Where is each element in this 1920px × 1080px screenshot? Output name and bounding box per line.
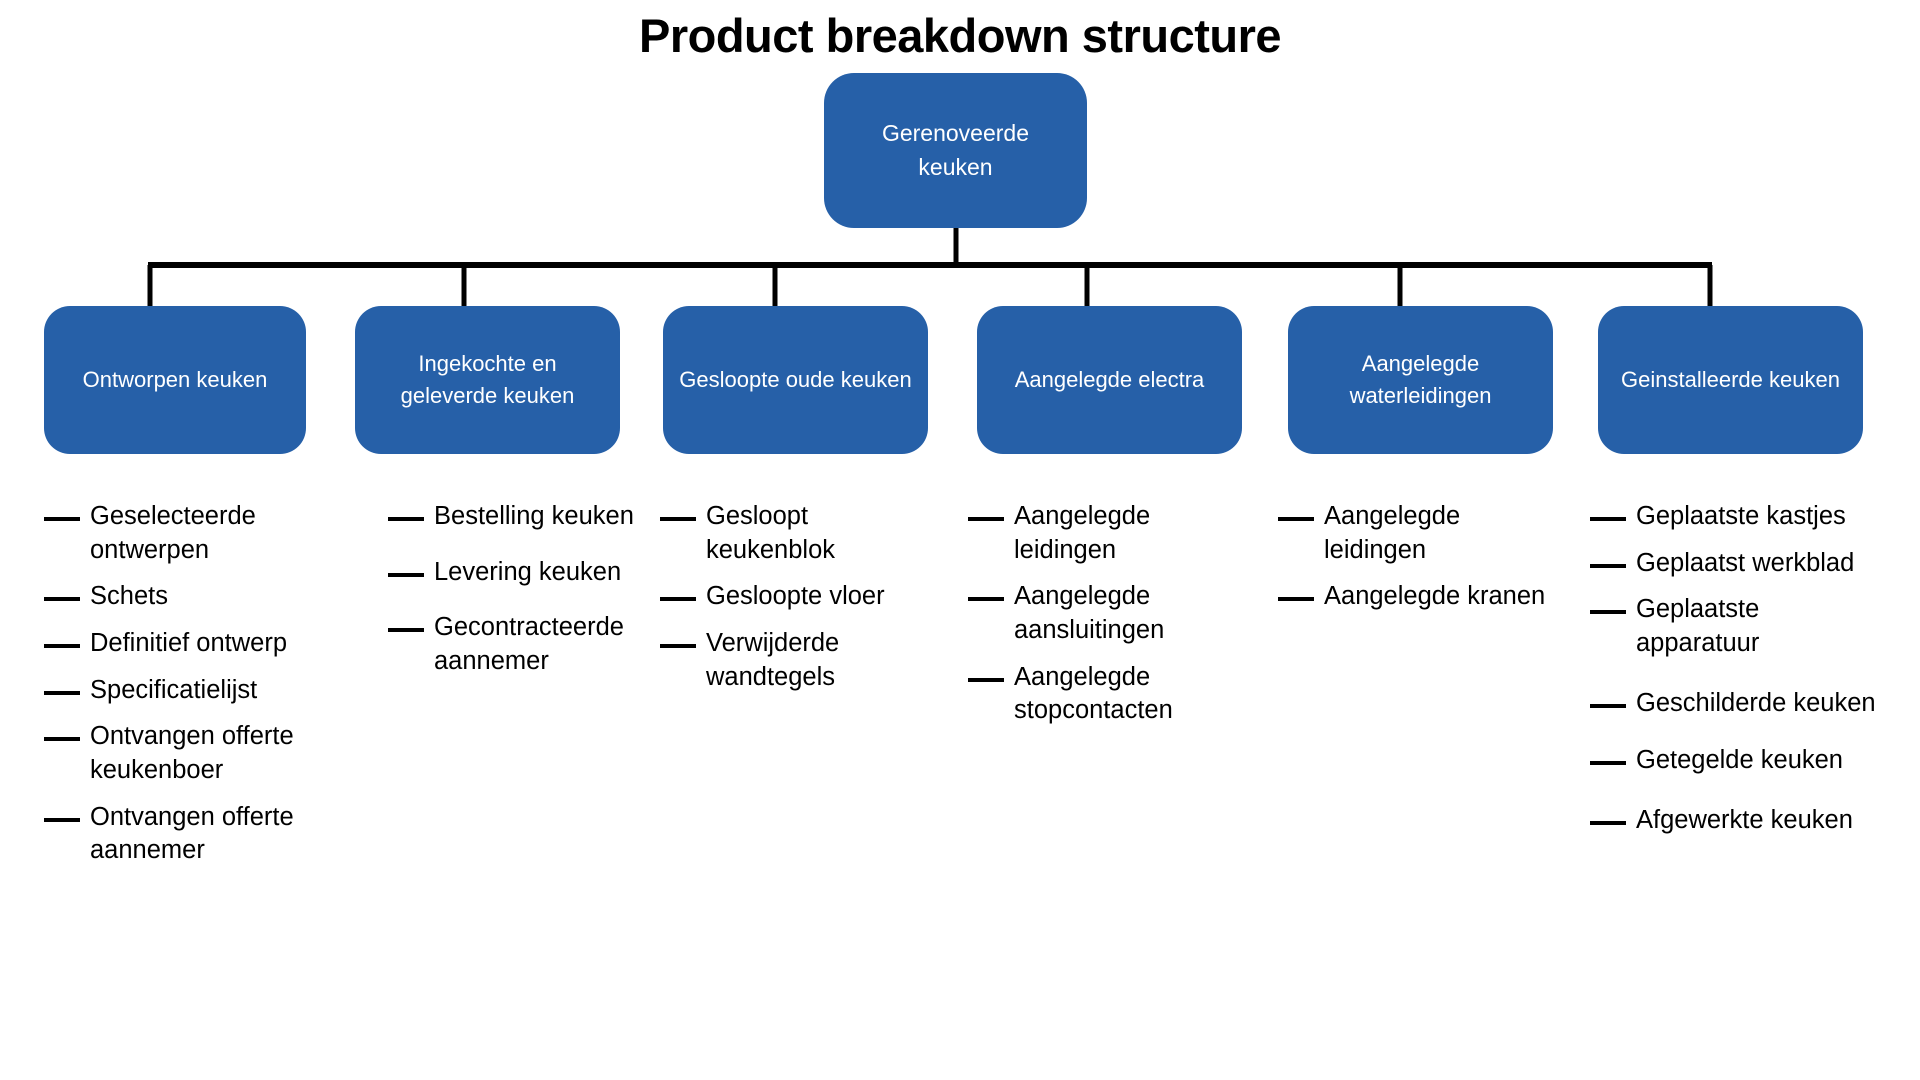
list-item[interactable]: Specificatielijst — [44, 674, 344, 708]
list-item[interactable]: Bestelling keuken — [388, 500, 678, 534]
list-item-label: Levering keuken — [434, 556, 621, 590]
list-column-1: Geselecteerde ontwerpen Schets Definitie… — [44, 500, 344, 881]
list-item[interactable]: Levering keuken — [388, 556, 678, 590]
list-item-label: Aangelegde kranen — [1324, 580, 1545, 614]
node-root-label: Gerenoveerde keuken — [848, 117, 1063, 184]
dash-icon — [1590, 564, 1626, 568]
node-child-5[interactable]: Aangelegde waterleidingen — [1288, 306, 1553, 454]
list-item-label: Afgewerkte keuken — [1636, 804, 1853, 838]
list-item[interactable]: Schets — [44, 580, 344, 614]
dash-icon — [44, 517, 80, 521]
node-child-3-label: Gesloopte oude keuken — [679, 364, 911, 396]
list-item-label: Geplaatste apparatuur — [1636, 593, 1880, 660]
list-item[interactable]: Ontvangen offerte keukenboer — [44, 720, 344, 787]
list-item[interactable]: Aangelegde stopcontacten — [968, 661, 1248, 728]
dash-icon — [1590, 704, 1626, 708]
list-column-3: Gesloopt keukenblok Gesloopte vloer Verw… — [660, 500, 930, 707]
dash-icon — [1590, 517, 1626, 521]
list-item-label: Gecontracteerde aannemer — [434, 611, 678, 678]
node-child-6-label: Geinstalleerde keuken — [1621, 364, 1840, 396]
list-column-6: Geplaatste kastjes Geplaatst werkblad Ge… — [1590, 500, 1880, 851]
dash-icon — [1590, 610, 1626, 614]
list-item-label: Aangelegde leidingen — [1324, 500, 1548, 567]
dash-icon — [1278, 597, 1314, 601]
dash-icon — [660, 517, 696, 521]
list-item[interactable]: Geplaatste kastjes — [1590, 500, 1880, 534]
dash-icon — [660, 644, 696, 648]
list-column-5: Aangelegde leidingen Aangelegde kranen — [1278, 500, 1548, 627]
dash-icon — [968, 517, 1004, 521]
list-item[interactable]: Aangelegde leidingen — [1278, 500, 1548, 567]
list-item-label: Aangelegde aansluitingen — [1014, 580, 1248, 647]
node-child-2[interactable]: Ingekochte en geleverde keuken — [355, 306, 620, 454]
list-item[interactable]: Afgewerkte keuken — [1590, 804, 1880, 838]
list-item[interactable]: Aangelegde kranen — [1278, 580, 1548, 614]
list-item-label: Geschilderde keuken — [1636, 687, 1876, 721]
list-item-label: Verwijderde wandtegels — [706, 627, 930, 694]
list-column-2: Bestelling keuken Levering keuken Gecont… — [388, 500, 678, 692]
list-item-label: Ontvangen offerte keukenboer — [90, 720, 344, 787]
list-item[interactable]: Verwijderde wandtegels — [660, 627, 930, 694]
node-child-1[interactable]: Ontworpen keuken — [44, 306, 306, 454]
list-item-label: Specificatielijst — [90, 674, 257, 708]
list-item[interactable]: Geplaatst werkblad — [1590, 547, 1880, 581]
node-child-2-label: Ingekochte en geleverde keuken — [369, 348, 606, 412]
list-item-label: Gesloopt keukenblok — [706, 500, 930, 567]
list-item-label: Definitief ontwerp — [90, 627, 287, 661]
dash-icon — [44, 644, 80, 648]
list-item[interactable]: Aangelegde leidingen — [968, 500, 1248, 567]
dash-icon — [44, 691, 80, 695]
list-item[interactable]: Getegelde keuken — [1590, 744, 1880, 778]
dash-icon — [388, 573, 424, 577]
dash-icon — [660, 597, 696, 601]
node-child-4-label: Aangelegde electra — [1015, 364, 1205, 396]
list-item-label: Aangelegde leidingen — [1014, 500, 1248, 567]
list-item[interactable]: Gesloopt keukenblok — [660, 500, 930, 567]
dash-icon — [388, 628, 424, 632]
list-item-label: Gesloopte vloer — [706, 580, 885, 614]
node-child-5-label: Aangelegde waterleidingen — [1302, 348, 1539, 412]
dash-icon — [44, 818, 80, 822]
list-item-label: Geplaatste kastjes — [1636, 500, 1846, 534]
dash-icon — [1590, 761, 1626, 765]
list-item-label: Schets — [90, 580, 168, 614]
dash-icon — [968, 597, 1004, 601]
list-item-label: Geselecteerde ontwerpen — [90, 500, 344, 567]
node-child-1-label: Ontworpen keuken — [83, 364, 268, 396]
node-child-6[interactable]: Geinstalleerde keuken — [1598, 306, 1863, 454]
dash-icon — [44, 737, 80, 741]
list-item[interactable]: Aangelegde aansluitingen — [968, 580, 1248, 647]
list-item-label: Geplaatst werkblad — [1636, 547, 1854, 581]
dash-icon — [1278, 517, 1314, 521]
dash-icon — [44, 597, 80, 601]
list-item[interactable]: Gesloopte vloer — [660, 580, 930, 614]
list-item[interactable]: Definitief ontwerp — [44, 627, 344, 661]
list-item-label: Bestelling keuken — [434, 500, 634, 534]
list-item[interactable]: Geplaatste apparatuur — [1590, 593, 1880, 660]
page-title: Product breakdown structure — [0, 8, 1920, 63]
list-item[interactable]: Ontvangen offerte aannemer — [44, 801, 344, 868]
list-item[interactable]: Geselecteerde ontwerpen — [44, 500, 344, 567]
dash-icon — [968, 678, 1004, 682]
node-child-4[interactable]: Aangelegde electra — [977, 306, 1242, 454]
list-item-label: Getegelde keuken — [1636, 744, 1843, 778]
dash-icon — [1590, 821, 1626, 825]
list-item[interactable]: Gecontracteerde aannemer — [388, 611, 678, 678]
dash-icon — [388, 517, 424, 521]
list-column-4: Aangelegde leidingen Aangelegde aansluit… — [968, 500, 1248, 741]
list-item-label: Ontvangen offerte aannemer — [90, 801, 344, 868]
node-child-3[interactable]: Gesloopte oude keuken — [663, 306, 928, 454]
list-item[interactable]: Geschilderde keuken — [1590, 687, 1880, 721]
node-root[interactable]: Gerenoveerde keuken — [824, 73, 1087, 228]
list-item-label: Aangelegde stopcontacten — [1014, 661, 1248, 728]
